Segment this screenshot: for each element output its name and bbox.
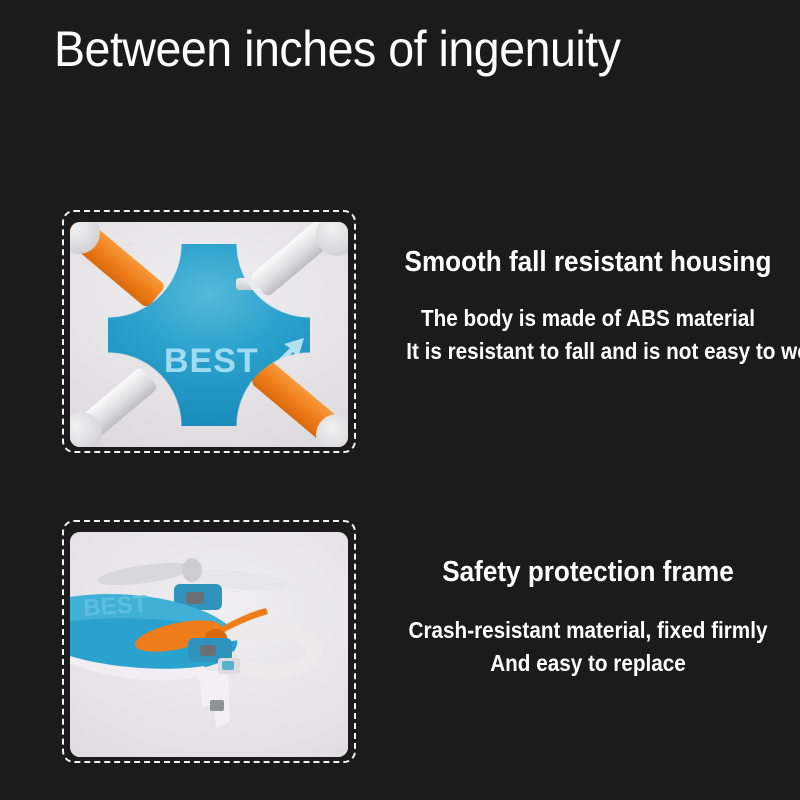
svg-text:BEST: BEST [164, 342, 259, 380]
feature-block-frame: BEST [0, 510, 800, 785]
feature-body: The body is made of ABS material It is r… [372, 302, 800, 368]
product-photo-frame: BEST [58, 518, 358, 768]
feature-text-housing: Smooth fall resistant housing The body i… [372, 244, 800, 368]
motor-mount [136, 256, 166, 282]
product-photo-housing: BEST [58, 208, 358, 458]
page-title: Between inches of ingenuity [54, 19, 742, 79]
feature-block-housing: BEST Smooth fall resistant housing The b… [0, 200, 800, 470]
motor-mount [134, 440, 164, 447]
drone-top-illustration: BEST [70, 222, 348, 447]
feature-heading: Smooth fall resistant housing [394, 244, 783, 280]
camera-nub [236, 278, 262, 290]
infographic-page: Between inches of ingenuity [0, 0, 800, 800]
feature-body-line: Crash-resistant material, fixed firmly [394, 614, 783, 647]
feature-text-frame: Safety protection frame Crash-resistant … [372, 554, 800, 680]
drone-rotor-illustration: BEST [70, 532, 348, 757]
photo-top-view: BEST [70, 222, 348, 447]
feature-body: Crash-resistant material, fixed firmly A… [372, 614, 800, 680]
best-logo: BEST [164, 336, 334, 384]
drone-body-shell: BEST [108, 244, 310, 426]
feature-body-line: The body is made of ABS material [394, 302, 783, 335]
feature-body-line: It is resistant to fall and is not easy … [406, 335, 795, 368]
svg-text:BEST: BEST [83, 591, 149, 622]
photo-angle-view: BEST [70, 532, 348, 757]
feature-heading: Safety protection frame [394, 554, 783, 590]
feature-body-line: And easy to replace [394, 647, 783, 680]
